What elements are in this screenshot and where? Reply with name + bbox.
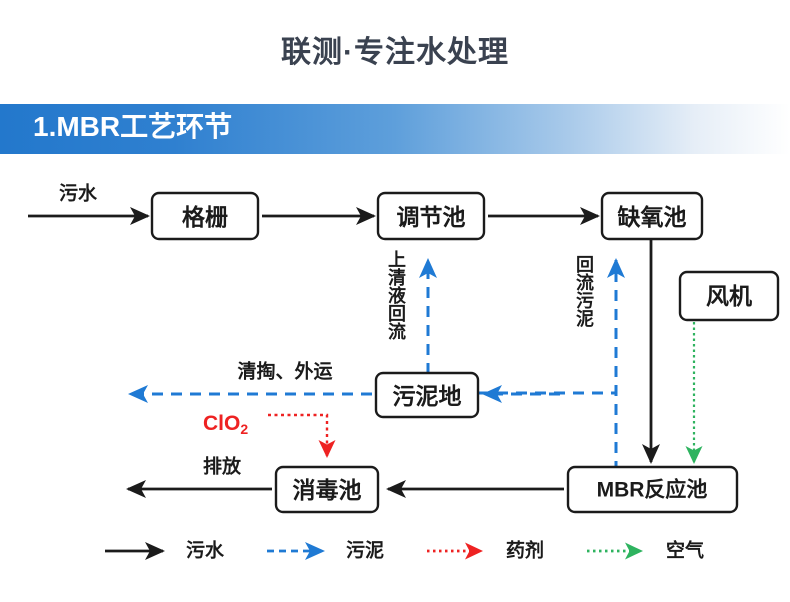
node-sludge-yard-label: 污泥地 xyxy=(393,383,462,409)
chem-label-subscript: 2 xyxy=(240,421,248,437)
node-mbr-tank-label: MBR反应池 xyxy=(597,478,708,502)
page-title: 联测·专注水处理 xyxy=(0,38,790,68)
flow-label-desilt-transport: 清掏、外运 xyxy=(237,360,332,383)
node-blower-label: 风机 xyxy=(706,283,752,309)
legend-label-sludge: 污泥 xyxy=(346,540,384,562)
legend-label-water: 污水 xyxy=(186,540,225,562)
node-disinfection-tank-label: 消毒池 xyxy=(293,477,362,503)
process-diagram-page: 联测·专注水处理 1.MBR工艺环节 xyxy=(0,0,790,602)
flow-chemical-dosing-arrow xyxy=(268,415,327,456)
flow-label-discharge: 排放 xyxy=(203,455,242,478)
flow-label-return-sludge: 回流污泥 xyxy=(574,255,594,328)
legend-label-air: 空气 xyxy=(666,539,704,562)
mbr-process-flow-diagram: 污水 格栅 调节池 缺氧池 风机 上清液回流 回流污泥 xyxy=(0,160,790,602)
node-regulating-tank-label: 调节池 xyxy=(397,204,466,230)
node-grille-label: 格栅 xyxy=(182,204,228,230)
flow-label-chemical-clo2: ClO2 xyxy=(203,412,248,438)
legend-label-chemical: 药剂 xyxy=(506,539,544,562)
section-header-label: 1.MBR工艺环节 xyxy=(33,113,232,141)
chem-label-main: ClO xyxy=(203,412,240,435)
legend: 污水 污泥 药剂 空气 xyxy=(105,539,704,562)
flow-label-influent: 污水 xyxy=(59,183,98,205)
flow-label-supernatant-return: 上清液回流 xyxy=(386,250,406,340)
node-anoxic-tank-label: 缺氧池 xyxy=(618,204,687,230)
